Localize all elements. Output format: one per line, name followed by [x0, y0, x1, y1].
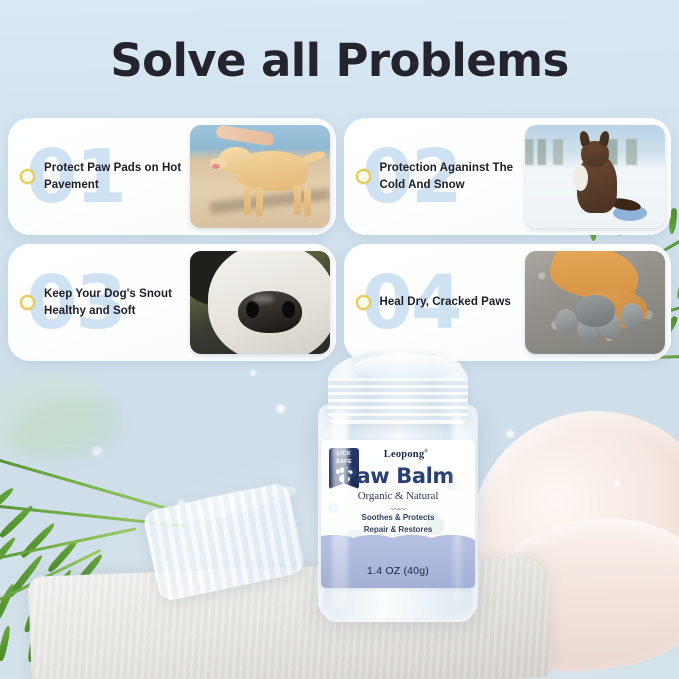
feature-card-4[interactable]: 04 Heal Dry, Cracked Paws — [344, 244, 672, 361]
dog-on-pavement-image — [190, 125, 330, 228]
feature-row-1: 01 Protect Paw Pads on Hot Pavement — [8, 118, 671, 235]
feature-card-1[interactable]: 01 Protect Paw Pads on Hot Pavement — [8, 118, 336, 235]
product-highlight-right — [453, 414, 462, 604]
feature-text-3: Keep Your Dog's Snout Healthy and Soft — [44, 286, 190, 319]
bullet-dot-icon — [20, 295, 35, 310]
coconut-decoration — [455, 395, 679, 677]
dog-in-snow-image — [525, 125, 665, 228]
brand-text: Leopong — [384, 449, 425, 460]
coconut-flesh — [473, 506, 679, 679]
sparkle-dot — [92, 446, 102, 456]
coconut-husk — [448, 390, 679, 679]
page-title: Solve all Problems — [0, 34, 679, 87]
feature-photo-3 — [190, 251, 330, 354]
sparkle-dot — [276, 404, 285, 413]
product-highlight-left — [332, 410, 348, 610]
bullet-dot-icon — [356, 169, 371, 184]
dog-snout-closeup-image — [190, 251, 330, 354]
registered-mark: ® — [424, 450, 428, 455]
cap-dome — [354, 354, 462, 380]
feature-card-2[interactable]: 02 Protection Aganinst The Cold And Snow — [344, 118, 672, 235]
cracked-paw-image — [525, 251, 665, 354]
sparkle-dot — [250, 370, 256, 376]
product-container[interactable]: LICK SAFE Leopong® Paw Balm Organic & Na… — [318, 352, 478, 620]
feature-text-4: Heal Dry, Cracked Paws — [380, 294, 526, 311]
feature-row-2: 03 Keep Your Dog's Snout Healthy and Sof… — [8, 244, 671, 361]
cap-ribbing — [328, 378, 468, 422]
feature-photo-4 — [525, 251, 665, 354]
feature-photo-2 — [525, 125, 665, 228]
feature-card-grid: 01 Protect Paw Pads on Hot Pavement — [8, 118, 671, 370]
feature-card-3[interactable]: 03 Keep Your Dog's Snout Healthy and Sof… — [8, 244, 336, 361]
feature-photo-1 — [190, 125, 330, 228]
feature-text-2: Protection Aganinst The Cold And Snow — [380, 160, 526, 193]
loose-cap — [142, 482, 306, 603]
infographic-canvas: Solve all Problems 01 Protect Paw Pads o… — [0, 0, 679, 679]
sparkle-dot — [506, 430, 514, 438]
soft-leaf-shape — [0, 372, 100, 452]
bullet-dot-icon — [20, 169, 35, 184]
sparkle-dot — [614, 480, 620, 486]
feature-text-1: Protect Paw Pads on Hot Pavement — [44, 160, 190, 193]
soft-leaf-shape — [10, 398, 120, 460]
pedestal-front-face — [43, 617, 515, 679]
bullet-dot-icon — [356, 295, 371, 310]
